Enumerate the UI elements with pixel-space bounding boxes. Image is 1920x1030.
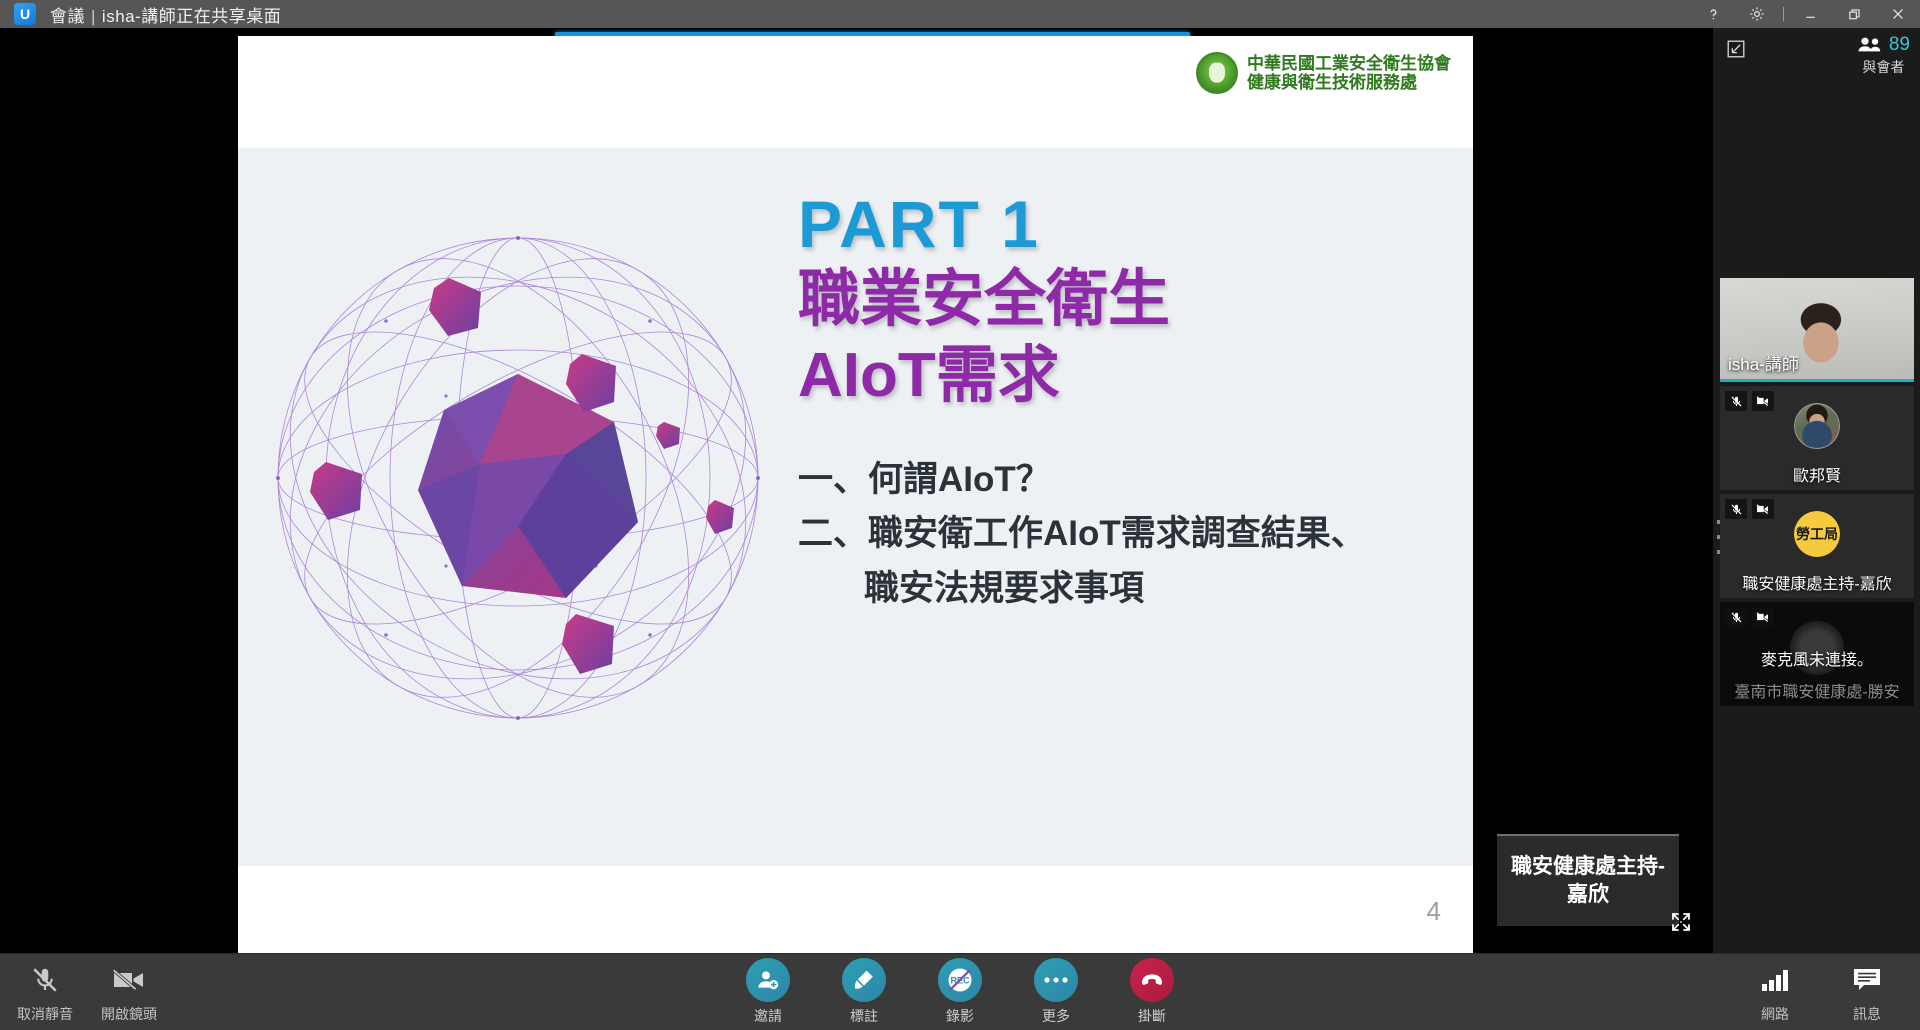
- chat-bubble-icon: [1852, 960, 1882, 1000]
- mic-muted-icon: [1725, 499, 1747, 519]
- title-bar: U 會議|isha-講師正在共享桌面: [0, 0, 1920, 28]
- floating-participant-name: 職安健康處主持-嘉欣: [1503, 853, 1673, 908]
- mic-muted-icon: [30, 960, 60, 1000]
- toolbar-left-group: 取消靜音 開啟鏡頭: [14, 960, 160, 1024]
- add-person-icon: [746, 958, 790, 1002]
- window-title-main: 會議: [50, 7, 85, 26]
- chat-button-label: 訊息: [1853, 1004, 1881, 1024]
- center-polyhedron: [418, 374, 638, 598]
- association-logo: 中華民國工業安全衛生協會 健康與衛生技術服務處: [1196, 52, 1451, 94]
- slide-part-label: PART 1: [798, 188, 1447, 262]
- minimize-button[interactable]: [1788, 0, 1832, 28]
- window-controls: [1691, 0, 1920, 28]
- mic-muted-icon: [1725, 607, 1747, 627]
- signal-bars-icon: [1761, 960, 1789, 1000]
- annotate-button-label: 標註: [850, 1006, 878, 1026]
- participant-tile[interactable]: isha-講師: [1720, 278, 1914, 382]
- camera-off-icon: [1752, 607, 1774, 627]
- marker-pen-icon: [842, 958, 886, 1002]
- association-emblem-icon: [1196, 52, 1238, 94]
- invite-button[interactable]: 邀請: [737, 958, 799, 1026]
- window-title-sub: isha-講師正在共享桌面: [102, 7, 281, 26]
- hangup-button[interactable]: 掛斷: [1121, 958, 1183, 1026]
- participant-count-number: 89: [1889, 34, 1910, 56]
- gear-icon[interactable]: [1735, 0, 1779, 28]
- record-button-label: 錄影: [946, 1006, 974, 1026]
- slide-body: PART 1 職業安全衛生 AIoT需求 一、何謂AIoT？ 二、職安衛工作AI…: [238, 148, 1473, 866]
- title-separator: |: [91, 7, 96, 26]
- participant-tile-name: 臺南市職安健康處-勝安: [1720, 684, 1914, 702]
- slide-heading-line1: 職業安全衛生: [798, 262, 1447, 338]
- camera-off-icon: [1752, 499, 1774, 519]
- participant-tile-name: 職安健康處主持-嘉欣: [1720, 576, 1914, 594]
- participant-count[interactable]: 89 與會者: [1857, 34, 1910, 77]
- collapse-panel-icon[interactable]: [1723, 36, 1749, 62]
- participant-tile-name: 歐邦賢: [1720, 468, 1914, 486]
- floating-participant-tile[interactable]: 職安健康處主持-嘉欣: [1497, 834, 1679, 926]
- unmute-button-label: 取消靜音: [17, 1004, 73, 1024]
- shared-screen-stage[interactable]: 中華民國工業安全衛生協會 健康與衛生技術服務處: [0, 28, 1712, 953]
- slide-text-block: PART 1 職業安全衛生 AIoT需求 一、何謂AIoT？ 二、職安衛工作AI…: [798, 188, 1447, 616]
- controls-divider: [1783, 7, 1784, 21]
- unmute-button[interactable]: 取消靜音: [14, 960, 76, 1024]
- network-button-label: 網路: [1761, 1004, 1789, 1024]
- slide-bullet: 職安法規要求事項: [798, 562, 1447, 616]
- fullscreen-icon[interactable]: [1664, 905, 1698, 939]
- association-logo-line2: 健康與衛生技術服務處: [1247, 73, 1451, 92]
- window-title: 會議|isha-講師正在共享桌面: [50, 2, 281, 27]
- start-camera-button-label: 開啟鏡頭: [101, 1004, 157, 1024]
- participant-tile-name: isha-講師: [1720, 356, 1914, 375]
- toolbar-center-group: 邀請 標註 REC: [737, 958, 1183, 1026]
- toolbar-right-group: 網路 訊息: [1744, 960, 1898, 1024]
- participant-tile[interactable]: 麥克風未連接。 臺南市職安健康處-勝安: [1720, 602, 1914, 706]
- phone-hangup-icon: [1130, 958, 1174, 1002]
- start-camera-button[interactable]: 開啟鏡頭: [98, 960, 160, 1024]
- close-icon[interactable]: [1876, 0, 1920, 28]
- camera-off-icon: [112, 960, 146, 1000]
- mic-muted-icon: [1725, 391, 1747, 411]
- restore-button[interactable]: [1832, 0, 1876, 28]
- participant-tile-list: isha-講師: [1720, 278, 1914, 710]
- participant-count-label: 與會者: [1857, 57, 1910, 77]
- slide-bullet: 一、何謂AIoT？: [798, 453, 1447, 507]
- slide-bullet-list: 一、何謂AIoT？ 二、職安衛工作AIoT需求調查結果、 職安法規要求事項: [798, 453, 1447, 616]
- network-button[interactable]: 網路: [1744, 960, 1806, 1024]
- camera-off-icon: [1752, 391, 1774, 411]
- participant-status-badges: [1725, 391, 1774, 411]
- meeting-toolbar: 取消靜音 開啟鏡頭: [0, 953, 1920, 1030]
- more-button[interactable]: 更多: [1025, 958, 1087, 1026]
- shared-slide: 中華民國工業安全衛生協會 健康與衛生技術服務處: [238, 36, 1473, 953]
- hangup-button-label: 掛斷: [1138, 1006, 1166, 1026]
- participant-status-badges: [1725, 499, 1774, 519]
- record-disabled-icon: REC: [938, 958, 982, 1002]
- umeeting-logo-icon: U: [14, 3, 36, 25]
- avatar: [1794, 403, 1840, 449]
- participant-tile[interactable]: 歐邦賢: [1720, 386, 1914, 490]
- participant-tile[interactable]: 勞工局 職安健康處主持-嘉欣: [1720, 494, 1914, 598]
- mic-not-connected-message: 麥克風未連接。: [1720, 646, 1914, 670]
- meeting-window: U 會議|isha-講師正在共享桌面: [0, 0, 1920, 1030]
- ellipsis-icon: [1034, 958, 1078, 1002]
- slide-bullet: 二、職安衛工作AIoT需求調查結果、: [798, 507, 1447, 561]
- invite-button-label: 邀請: [754, 1006, 782, 1026]
- slide-heading-line2: AIoT需求: [798, 338, 1447, 414]
- participant-panel: 89 與會者 isha-講師: [1712, 28, 1920, 953]
- chat-button[interactable]: 訊息: [1836, 960, 1898, 1024]
- avatar: 勞工局: [1794, 511, 1840, 557]
- slide-page-number: 4: [1427, 896, 1441, 927]
- record-button[interactable]: REC 錄影: [929, 958, 991, 1026]
- annotate-button[interactable]: 標註: [833, 958, 895, 1026]
- avatar-initials: 勞工局: [1794, 511, 1840, 557]
- association-logo-text: 中華民國工業安全衛生協會 健康與衛生技術服務處: [1247, 54, 1451, 92]
- participants-icon: [1857, 36, 1883, 54]
- wireframe-sphere-graphic: [266, 226, 771, 731]
- participant-status-badges: [1725, 607, 1774, 627]
- participant-panel-header: 89 與會者: [1713, 28, 1920, 92]
- help-button[interactable]: [1691, 0, 1735, 28]
- avatar-photo: [1794, 403, 1840, 449]
- association-logo-line1: 中華民國工業安全衛生協會: [1247, 54, 1451, 73]
- more-button-label: 更多: [1042, 1006, 1070, 1026]
